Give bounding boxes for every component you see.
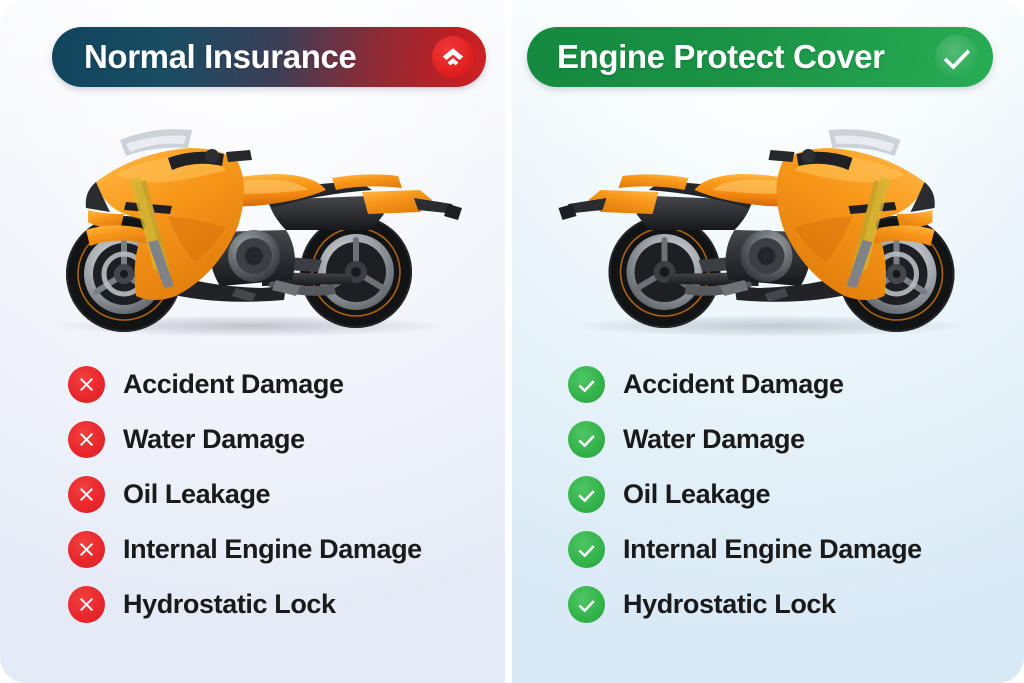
feature-row: Internal Engine Damage (568, 531, 988, 568)
feature-label: Oil Leakage (123, 479, 270, 510)
feature-row: Accident Damage (68, 366, 488, 403)
panel-title-normal-insurance: Normal Insurance (84, 38, 432, 76)
check-circle-icon (568, 476, 605, 513)
feature-row: Water Damage (68, 421, 488, 458)
panel-title-engine-protect-cover: Engine Protect Cover (557, 38, 935, 76)
check-icon (935, 35, 979, 79)
motorcycle-image-normal-insurance (0, 104, 505, 336)
feature-row: Accident Damage (568, 366, 988, 403)
panel-normal-insurance: Normal Insurance (0, 0, 505, 683)
feature-row: Hydrostatic Lock (68, 586, 488, 623)
panel-engine-protect-cover: Engine Protect Cover (512, 0, 1024, 683)
motorcycle-image-engine-protect-cover (512, 104, 1024, 336)
feature-list-normal-insurance: Accident Damage Water Damage Oil Leakage (68, 366, 488, 623)
insurance-comparison-board: Normal Insurance (0, 0, 1024, 683)
feature-label: Water Damage (623, 424, 805, 455)
feature-label: Accident Damage (123, 369, 344, 400)
cross-circle-icon (68, 586, 105, 623)
feature-row: Oil Leakage (568, 476, 988, 513)
feature-list-engine-protect-cover: Accident Damage Water Damage Oil Leakage (568, 366, 988, 623)
check-circle-icon (568, 586, 605, 623)
feature-label: Oil Leakage (623, 479, 770, 510)
header-pill-normal-insurance: Normal Insurance (52, 27, 486, 87)
feature-row: Internal Engine Damage (68, 531, 488, 568)
feature-label: Accident Damage (623, 369, 844, 400)
cross-circle-icon (68, 366, 105, 403)
cross-circle-icon (68, 531, 105, 568)
chevron-up-double-icon (432, 36, 474, 78)
header-pill-engine-protect-cover: Engine Protect Cover (527, 27, 993, 87)
check-circle-icon (568, 366, 605, 403)
cross-circle-icon (68, 421, 105, 458)
feature-label: Hydrostatic Lock (623, 589, 836, 620)
check-circle-icon (568, 421, 605, 458)
feature-row: Oil Leakage (68, 476, 488, 513)
feature-label: Internal Engine Damage (623, 534, 922, 565)
feature-label: Hydrostatic Lock (123, 589, 336, 620)
feature-label: Internal Engine Damage (123, 534, 422, 565)
feature-label: Water Damage (123, 424, 305, 455)
feature-row: Water Damage (568, 421, 988, 458)
check-circle-icon (568, 531, 605, 568)
feature-row: Hydrostatic Lock (568, 586, 988, 623)
cross-circle-icon (68, 476, 105, 513)
